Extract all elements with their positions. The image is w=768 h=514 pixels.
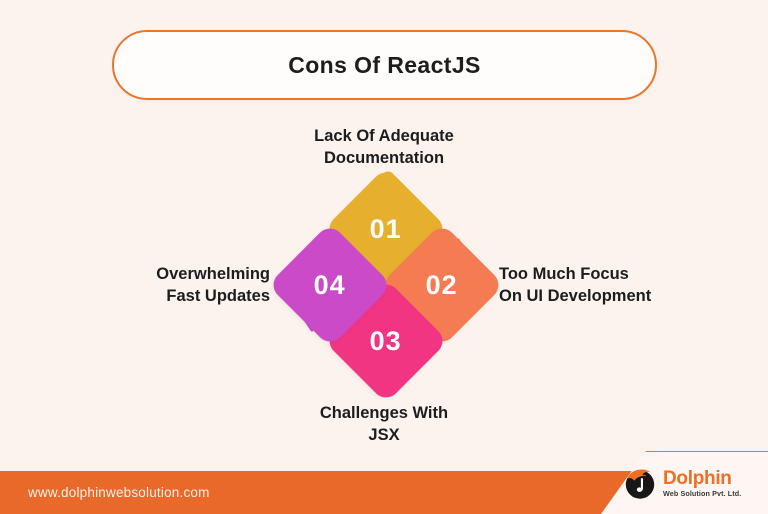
diamond-label-03: Challenges With JSX [271,403,497,447]
diamond-label-02-line2: On UI Development [499,286,749,308]
diamond-label-02: Too Much Focus On UI Development [499,264,749,308]
diamond-cluster: 01 02 03 04 [284,183,488,387]
dolphin-circle-icon [623,466,657,500]
footer-website-url[interactable]: www.dolphinwebsolution.com [28,471,210,514]
company-logo[interactable]: Dolphin Web Solution Pvt. Ltd. [593,452,768,514]
diamond-label-03-line2: JSX [271,425,497,447]
diamond-number-02: 02 [426,269,458,300]
logo-company-tagline: Web Solution Pvt. Ltd. [663,490,741,497]
logo-text-block: Dolphin Web Solution Pvt. Ltd. [663,469,741,497]
logo-company-name: Dolphin [663,469,741,488]
infographic-canvas: Cons Of ReactJS 01 02 03 04 Lack Of Ade [0,0,768,514]
diamond-number-01: 01 [370,213,402,244]
diamond-label-04-line2: Fast Updates [24,286,270,308]
diamond-label-01-line2: Documentation [271,148,497,170]
diamond-label-04: Overwhelming Fast Updates [24,264,270,308]
diamond-label-03-line1: Challenges With [271,403,497,425]
diamond-number-03: 03 [370,325,402,356]
diamond-label-04-line1: Overwhelming [24,264,270,286]
diamond-label-01: Lack Of Adequate Documentation [271,126,497,170]
diamond-number-04: 04 [314,269,346,300]
diamond-label-02-line1: Too Much Focus [499,264,749,286]
diamond-label-01-line1: Lack Of Adequate [271,126,497,148]
